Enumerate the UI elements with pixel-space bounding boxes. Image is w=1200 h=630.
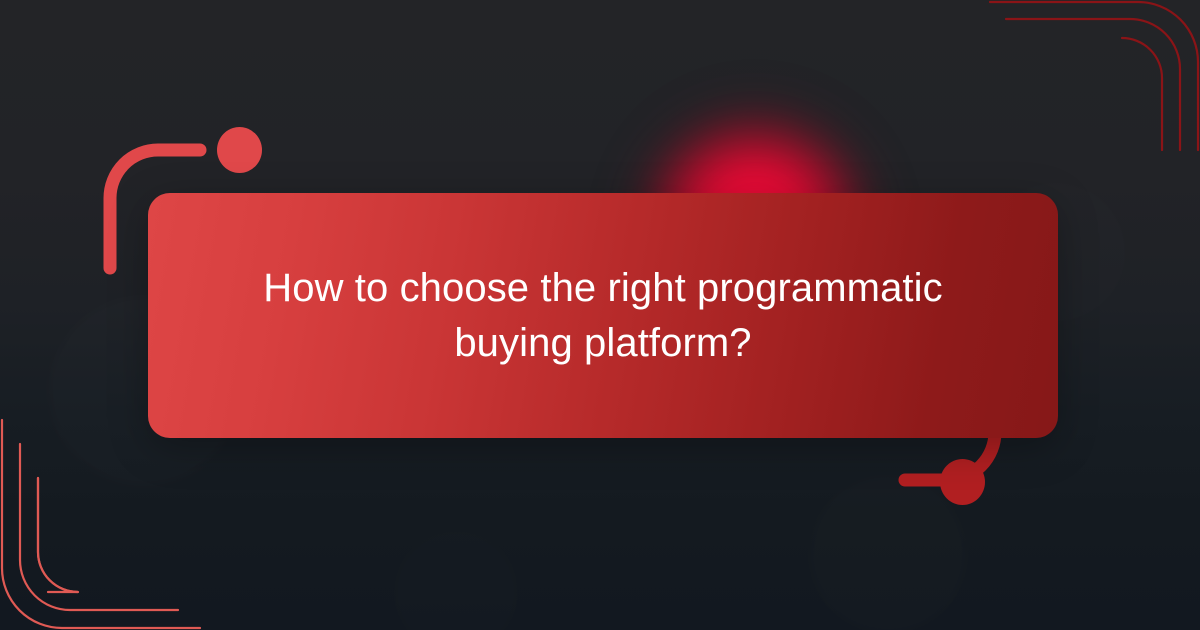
accent-dot-top-left [217, 127, 262, 173]
headline-card: How to choose the right programmatic buy… [148, 193, 1058, 438]
social-card-canvas: How to choose the right programmatic buy… [0, 0, 1200, 630]
accent-dot-bottom-right [940, 459, 985, 505]
page-title: How to choose the right programmatic buy… [195, 261, 1011, 370]
